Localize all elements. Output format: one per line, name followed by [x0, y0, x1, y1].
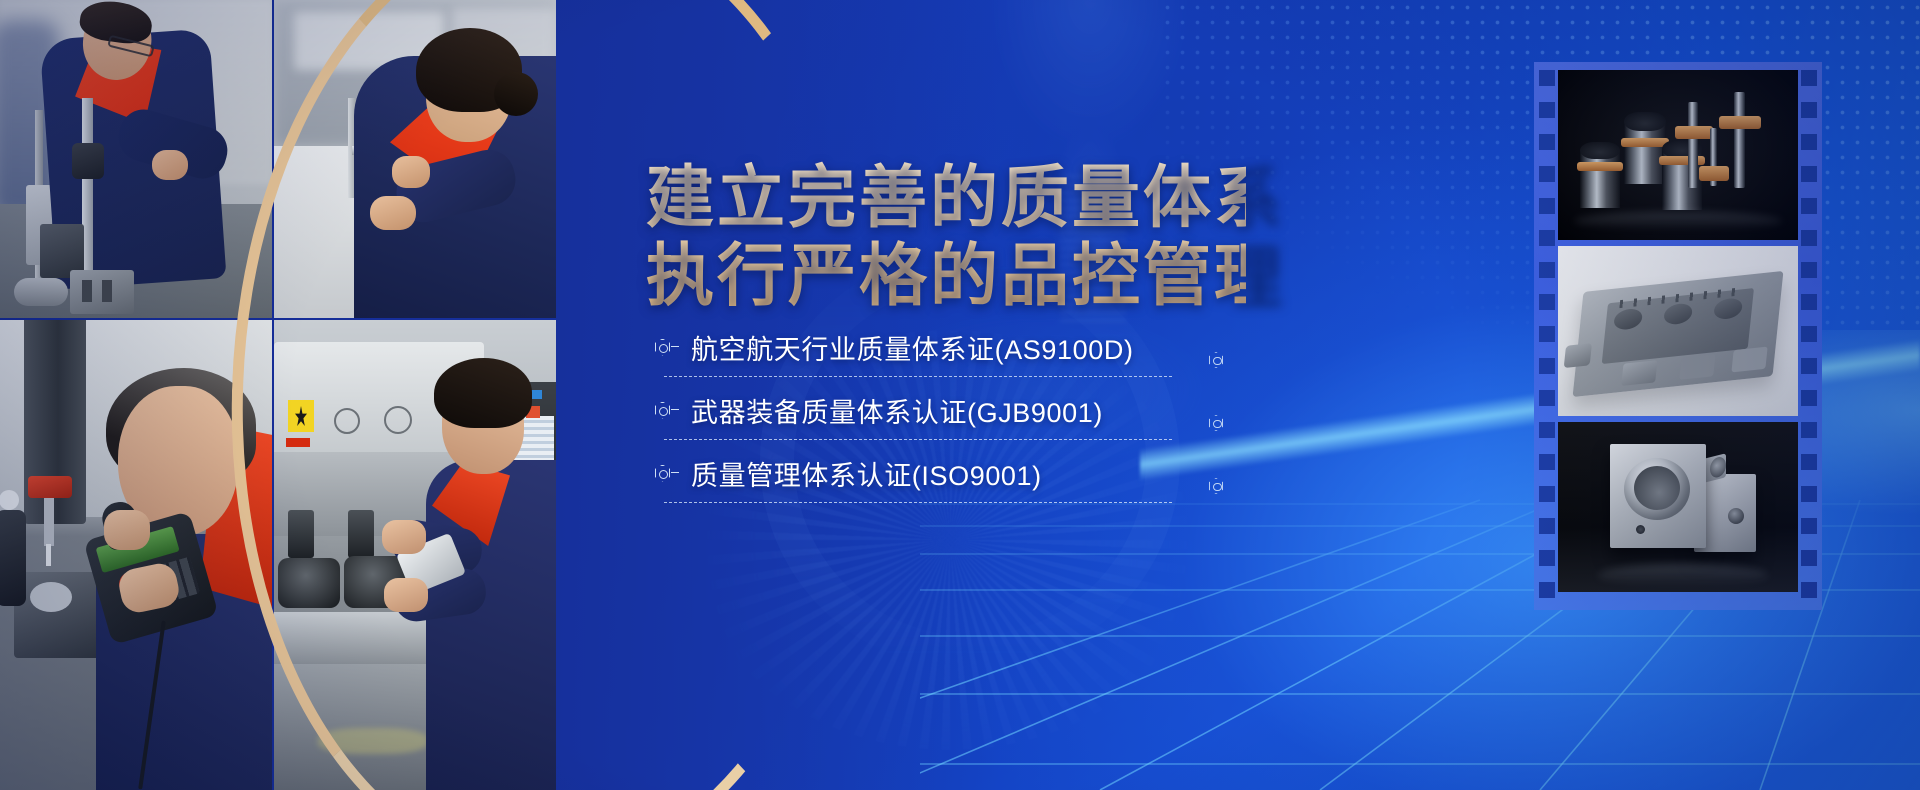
background-vignette — [0, 0, 1920, 790]
quality-system-banner: 建立完善的质量体系 执行严格的品控管理 航空航天行业质量体系证(AS9100D) — [0, 0, 1920, 790]
